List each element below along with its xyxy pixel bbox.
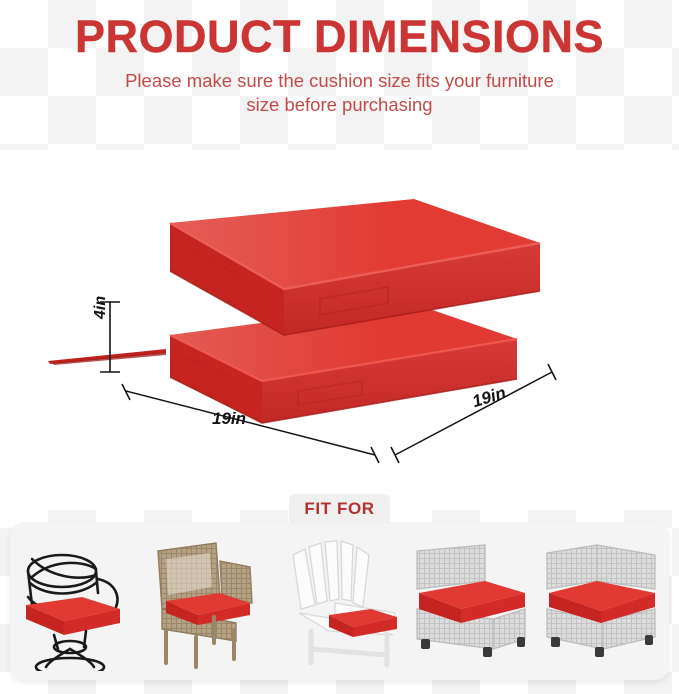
header: PRODUCT DIMENSIONS Please make sure the … <box>0 14 679 118</box>
dimension-label-height: 4in <box>92 296 110 319</box>
fit-for-tab: FIT FOR <box>289 494 390 524</box>
furniture-item-black-metal-swivel-chair <box>12 531 140 671</box>
page-title: PRODUCT DIMENSIONS <box>0 14 679 60</box>
gray-wicker-armless-sectional-icon <box>407 531 535 671</box>
gray-wicker-corner-sectional-icon <box>539 531 667 671</box>
page-subtitle: Please make sure the cushion size fits y… <box>120 69 560 118</box>
furniture-item-gray-wicker-corner-sectional <box>539 531 667 671</box>
white-adirondack-chair-icon <box>275 531 403 671</box>
brown-wicker-armchair-icon <box>144 531 272 671</box>
dimension-annotations: 4in 19in 19in <box>0 150 679 490</box>
black-metal-swivel-chair-icon <box>12 531 140 671</box>
fit-for-panel <box>10 522 669 680</box>
furniture-item-white-adirondack-chair <box>275 531 403 671</box>
furniture-item-gray-wicker-armless-sectional <box>407 531 535 671</box>
dimension-label-width: 19in <box>212 409 246 429</box>
fit-for-label: FIT FOR <box>304 499 374 519</box>
furniture-item-brown-wicker-armchair <box>144 531 272 671</box>
dimension-lines <box>0 150 679 490</box>
